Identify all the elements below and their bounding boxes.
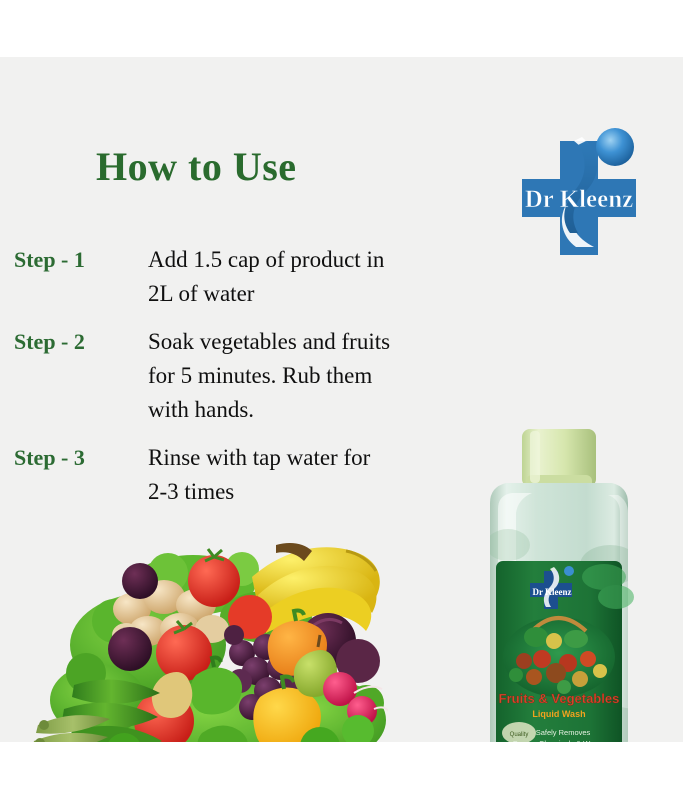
- step-label: Step - 3: [0, 441, 148, 475]
- step-row: Step - 1 Add 1.5 cap of product in 2L of…: [0, 243, 683, 311]
- step-label: Step - 2: [0, 325, 148, 359]
- step-text: Add 1.5 cap of product in 2L of water: [148, 243, 503, 311]
- content-canvas: How to Use: [0, 57, 683, 742]
- label-claim-line: Safely Removes: [536, 728, 591, 737]
- brand-logo: Dr Kleenz: [508, 119, 650, 259]
- page-title: How to Use: [96, 143, 297, 190]
- product-bottle: Dr Kleenz: [468, 425, 650, 742]
- bottle-label: Dr Kleenz: [492, 561, 634, 742]
- step-text-line: with hands.: [148, 393, 503, 427]
- label-brand-text: Dr Kleenz: [532, 587, 571, 597]
- label-subtitle: Liquid Wash: [532, 709, 585, 719]
- label-produce-art: [503, 617, 615, 697]
- step-text-line: Add 1.5 cap of product in: [148, 243, 503, 277]
- step-text-line: Rinse with tap water for: [148, 441, 503, 475]
- label-product-name: Fruits & Vegetables: [499, 691, 620, 706]
- step-text: Rinse with tap water for 2-3 times: [148, 441, 503, 509]
- step-text-line: 2L of water: [148, 277, 503, 311]
- step-row: Step - 2 Soak vegetables and fruits for …: [0, 325, 683, 427]
- step-text-line: 2-3 times: [148, 475, 503, 509]
- step-label: Step - 1: [0, 243, 148, 277]
- page-root: How to Use: [0, 0, 683, 800]
- brand-logo-text: Dr Kleenz: [525, 186, 634, 213]
- step-text-line: Soak vegetables and fruits: [148, 325, 503, 359]
- sphere-icon: [596, 128, 634, 166]
- step-text: Soak vegetables and fruits for 5 minutes…: [148, 325, 503, 427]
- step-text-line: for 5 minutes. Rub them: [148, 359, 503, 393]
- produce-photo: [28, 525, 388, 742]
- label-claim-line: Germs, Chemicals & Waxes: [512, 739, 606, 742]
- quality-seal-text: Quality: [510, 732, 529, 738]
